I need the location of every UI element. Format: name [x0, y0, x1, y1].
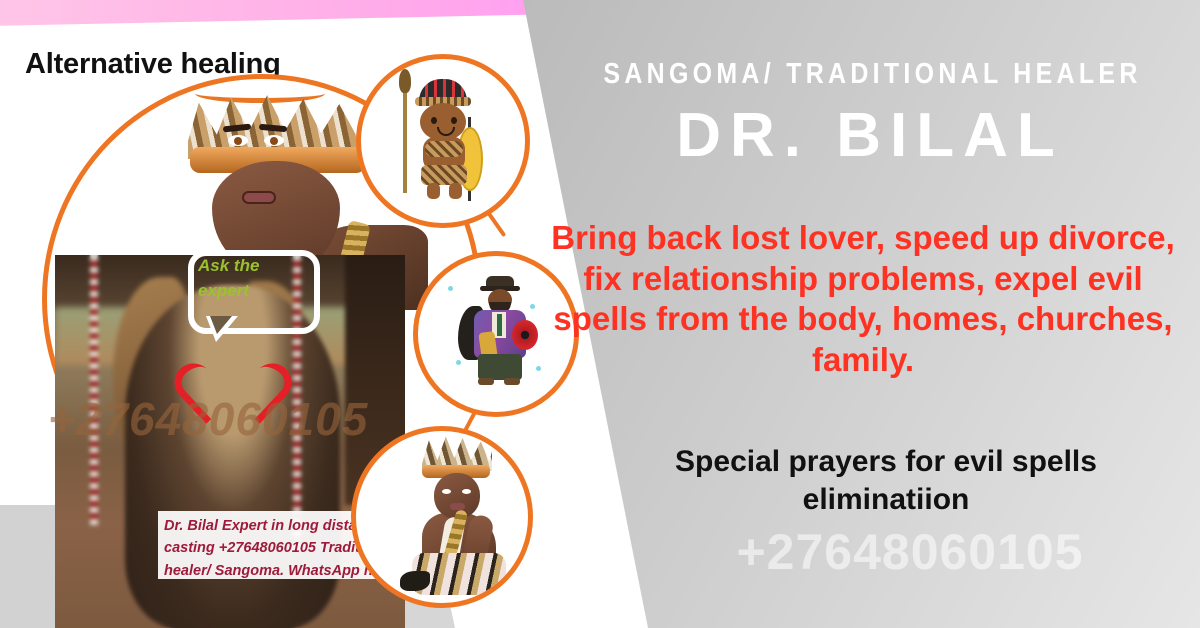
top-pink-strip: [0, 0, 601, 26]
warrior-eye-right: [451, 117, 457, 124]
kicker-heading: SANGOMA/ TRADITIONAL HEALER: [603, 58, 1136, 91]
warrior-illustration: [395, 73, 487, 203]
speech-bubble-tail-inner: [210, 316, 232, 334]
crouching-healer-tail: [400, 571, 430, 591]
sparkle-icon: [530, 304, 535, 309]
caption-line-3: healer/ Sangoma. WhatsApp n: [164, 560, 380, 579]
caption-line-2: casting +27648060105 Traditi: [164, 537, 380, 559]
sparkle-icon: [536, 366, 541, 371]
healer-mouth: [242, 191, 276, 204]
photo-watermark-phone: +27648060105: [48, 392, 368, 446]
speech-bubble-text: Ask the expert: [198, 254, 302, 303]
warrior-eye-left: [431, 117, 437, 124]
watermark-phone-number: +27648060105: [640, 523, 1180, 581]
caption-line-1: Dr. Bilal Expert in long distan: [164, 515, 380, 537]
crouching-healer-mouth: [450, 503, 465, 510]
gentleman-pants: [478, 354, 522, 380]
warrior-leopard-band: [425, 141, 463, 157]
sparkle-icon: [448, 286, 453, 291]
healer-pupil-left: [234, 137, 242, 145]
sparkle-icon: [456, 360, 461, 365]
special-prayers-text: Special prayers for evil spells eliminat…: [596, 443, 1176, 518]
gentleman-red-drum: [512, 320, 538, 350]
gentleman-foot-right: [504, 378, 520, 385]
warrior-leg-left: [427, 183, 440, 199]
poster-canvas: Alternative healing Ask the expert +2764…: [0, 0, 1200, 628]
crouching-healer-illustration: [382, 435, 508, 599]
spear-tip: [399, 69, 411, 93]
healer-pupil-right: [270, 137, 278, 145]
gentleman-foot-left: [478, 378, 494, 385]
circle-photo-crouching-healer: [351, 426, 533, 608]
services-paragraph: Bring back lost lover, speed up divorce,…: [548, 218, 1178, 380]
crouching-healer-eye-left: [442, 489, 451, 494]
healer-name-heading: DR. BILAL: [560, 100, 1180, 171]
warrior-leg-right: [449, 183, 462, 199]
photo-caption-box: Dr. Bilal Expert in long distan casting …: [158, 511, 380, 579]
circle-photo-warrior: [356, 54, 530, 228]
gentleman-illustration: [460, 276, 538, 388]
crouching-healer-eye-right: [462, 489, 471, 494]
warrior-skirt: [421, 165, 467, 185]
gentleman-tie: [497, 314, 502, 336]
